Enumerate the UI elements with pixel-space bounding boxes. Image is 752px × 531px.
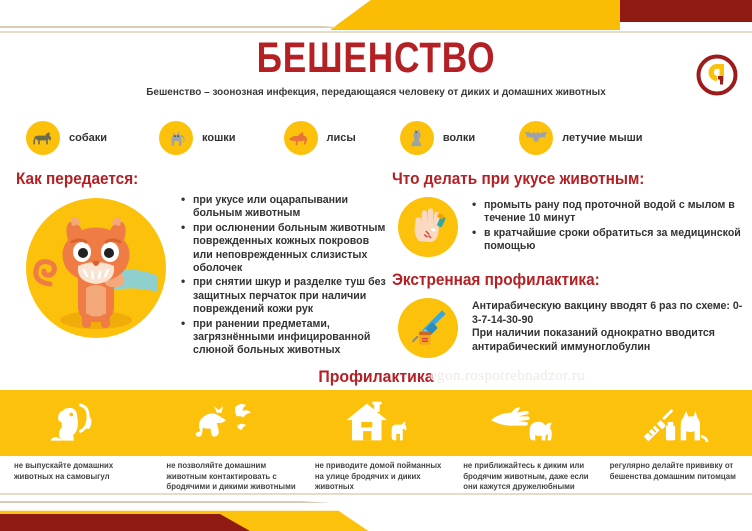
prevention-heading: Профилактика [26, 367, 725, 387]
animal-item-wolf: волки [400, 121, 475, 155]
prevention-caption-cell: регулярно делайте прививку от бешенства … [606, 461, 752, 493]
animal-label: собаки [69, 132, 107, 144]
infographic-poster: БЕШЕНСТВО Бешенство – зоонозная инфекция… [0, 0, 752, 531]
list-item: при снятии шкур и разделке туш без защит… [181, 276, 386, 316]
animal-label: волки [443, 132, 475, 144]
list-item: промыть рану под проточной водой с мылом… [472, 199, 748, 226]
bottom-ribbon-red-band [0, 514, 250, 531]
bottom-ribbon-line-lower [0, 501, 752, 503]
top-ribbon-yellow-band [330, 0, 620, 30]
prevention-icon-cell [150, 390, 300, 456]
prevention-captions: не выпускайте домашних животных на самов… [0, 461, 752, 493]
list-item: при ранении предметами, загрязнёнными ин… [181, 318, 386, 358]
page-title: БЕШЕНСТВО [68, 34, 685, 83]
animal-item-bat: летучие мыши [519, 121, 642, 155]
dog-icon [26, 121, 60, 155]
animal-carriers-row: собаки кошки лисы [12, 116, 742, 160]
caption-text: не приводите домой пойманных на улице бр… [315, 461, 449, 493]
caption-text: не выпускайте домашних животных на самов… [14, 461, 148, 482]
bat-icon [519, 121, 553, 155]
hand-stray-dog-icon [489, 399, 563, 448]
bite-actions-bullet-list: промыть рану под проточной водой с мылом… [472, 199, 748, 254]
bottom-decorative-ribbon [0, 489, 752, 531]
wolf-icon [400, 121, 434, 155]
prevention-icon-cell [0, 390, 150, 456]
prevention-caption-cell: не приближайтесь к диким или бродячим жи… [457, 461, 605, 493]
cat-birds-icon [191, 399, 261, 448]
list-item: в кратчайшие сроки обратиться за медицин… [472, 227, 748, 254]
animal-item-fox: лисы [284, 121, 356, 155]
transmission-section: Как передается: [16, 170, 386, 189]
transmission-bullet-list: при укусе или оцарапывании больным живот… [181, 194, 386, 359]
washing-hand-icon [398, 197, 458, 257]
caption-text: не приближайтесь к диким или бродячим жи… [463, 461, 597, 493]
prevention-caption-cell: не позволяйте домашним животным контакти… [156, 461, 308, 493]
cat-icon [159, 121, 193, 155]
bottom-ribbon-line-upper [0, 493, 752, 495]
prevention-icon-cell [602, 390, 752, 456]
right-column: Что делать при укусе животным: промыть р… [392, 170, 748, 358]
bite-actions-section: Что делать при укусе животным: промыть р… [392, 170, 748, 257]
syringe-vial-icon [398, 298, 458, 358]
dog-leash-icon [47, 399, 103, 448]
prevention-icon-cell [301, 390, 451, 456]
emergency-paragraph: Антирабическую вакцину вводят 6 раз по с… [472, 300, 748, 327]
prevention-icon-band [0, 390, 752, 456]
house-stray-dog-icon [341, 399, 411, 448]
header: БЕШЕНСТВО Бешенство – зоонозная инфекция… [0, 28, 752, 108]
caption-text: не позволяйте домашним животным контакти… [166, 461, 300, 493]
animal-item-dog: собаки [26, 121, 107, 155]
list-item: при ослюнении больным животным поврежден… [181, 222, 386, 276]
page-subtitle: Бешенство – зоонозная инфекция, передающ… [19, 86, 733, 98]
emergency-heading: Экстренная профилактика: [392, 271, 723, 290]
animal-label: летучие мыши [562, 132, 642, 144]
list-item: при укусе или оцарапывании больным живот… [181, 194, 386, 221]
cat-biting-arm-illustration [20, 192, 172, 344]
animal-item-cat: кошки [159, 121, 236, 155]
emergency-section: Экстренная профилактика: Антирабическую … [392, 271, 748, 358]
vaccination-cat-icon [642, 399, 712, 448]
prevention-caption-cell: не приводите домой пойманных на улице бр… [309, 461, 457, 493]
rospotrebnadzor-logo-icon [696, 54, 738, 96]
prevention-icon-cell [451, 390, 601, 456]
transmission-heading: Как передается: [16, 170, 360, 189]
animal-label: кошки [202, 132, 236, 144]
fox-icon [284, 121, 318, 155]
animal-label: лисы [327, 132, 356, 144]
emergency-paragraph: При наличии показаний однократно вводитс… [472, 327, 748, 354]
prevention-caption-cell: не выпускайте домашних животных на самов… [0, 461, 156, 493]
watermark-url: egon.rospotrebnadzor.ru [430, 368, 585, 385]
caption-text: регулярно делайте прививку от бешенства … [610, 461, 744, 482]
bite-actions-heading: Что делать при укусе животным: [392, 170, 723, 189]
